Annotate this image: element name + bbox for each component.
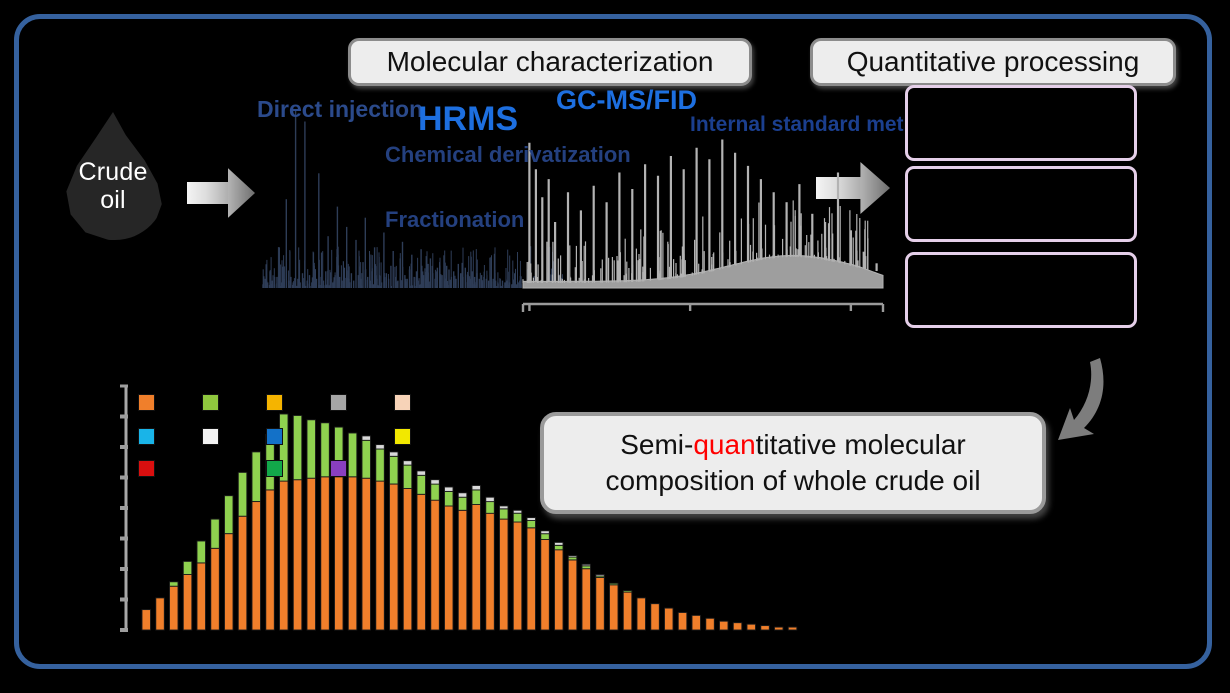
bar-segment <box>417 475 426 494</box>
bar-segment <box>225 496 234 534</box>
bar-segment <box>637 598 646 630</box>
caption-box: Semi-quantitative molecular composition … <box>540 412 1046 514</box>
bar-segment <box>568 556 577 558</box>
bar-segment <box>582 569 591 630</box>
bar-segment <box>610 585 619 630</box>
x-tick-label: 30 <box>678 312 702 314</box>
bar-segment <box>775 627 784 630</box>
annotation-hrms: HRMS <box>418 100 518 139</box>
swatch-yellow <box>394 428 411 445</box>
bar-segment <box>445 491 454 506</box>
annotation-fractionation: Fractionation <box>385 207 524 233</box>
bar-segment <box>527 518 536 521</box>
bar-segment <box>238 472 247 516</box>
bar-segment <box>183 575 192 631</box>
annotation-gc-ms-fid: GC-MS/FID <box>556 85 697 116</box>
bar-segment <box>156 598 165 630</box>
bar-segment <box>678 613 687 631</box>
swatch-green <box>266 460 283 477</box>
bar-segment <box>788 627 797 630</box>
result-box-2 <box>905 166 1137 242</box>
bar-segment <box>362 478 371 630</box>
figure-canvas: Crude oil Molecular characterization Qua… <box>0 0 1230 693</box>
bar-segment <box>293 480 302 630</box>
bar-segment <box>170 586 179 630</box>
bar-segment <box>555 542 564 545</box>
swatch-peach <box>394 394 411 411</box>
bar-segment <box>513 513 522 522</box>
swatch-purple <box>330 460 347 477</box>
bar-segment <box>403 488 412 630</box>
bar-segment <box>596 575 605 577</box>
bar-segment <box>197 541 206 563</box>
bar-segment <box>623 592 632 630</box>
bar-segment <box>651 604 660 630</box>
bar-segment <box>390 452 399 456</box>
bar-segment <box>623 591 632 593</box>
bar-segment <box>390 484 399 630</box>
droplet-label-line2: oil <box>60 186 166 214</box>
bar-segment <box>445 487 454 491</box>
result-box-3 <box>905 252 1137 328</box>
bar-segment <box>403 465 412 488</box>
bar-segment <box>252 502 261 630</box>
bar-segment <box>500 506 509 509</box>
composition-legend <box>138 394 388 472</box>
swatch-yellow-green <box>202 394 219 411</box>
swatch-cyan <box>138 428 155 445</box>
bar-segment <box>280 481 289 630</box>
caption-pre: Semi- <box>620 429 693 460</box>
bar-segment <box>348 477 357 630</box>
bar-segment <box>431 500 440 630</box>
bar-segment <box>307 478 316 630</box>
bar-segment <box>211 548 220 630</box>
arrow-shaft <box>187 182 231 204</box>
bar-segment <box>692 615 701 630</box>
time-axis: 53055Time (min) <box>523 304 889 314</box>
bar-segment <box>486 502 495 514</box>
bar-segment <box>500 519 509 630</box>
caption-line-2: composition of whole crude oil <box>605 463 980 499</box>
bar-segment <box>596 578 605 631</box>
bar-segment <box>403 461 412 465</box>
bar-segment <box>513 522 522 630</box>
bar-segment <box>486 513 495 630</box>
x-axis-label: Time (min) <box>785 312 889 314</box>
bar-segment <box>747 624 756 630</box>
annotation-direct-injection: Direct injection <box>257 96 423 123</box>
bar-segment <box>445 506 454 630</box>
caption-line-1: Semi-quantitative molecular <box>620 427 966 463</box>
bar-segment <box>527 528 536 630</box>
swatch-red <box>138 460 155 477</box>
bar-segment <box>238 516 247 630</box>
caption-highlight: quan <box>693 429 755 460</box>
bar-segment <box>458 510 467 630</box>
bar-segment <box>266 490 275 630</box>
bar-segment <box>761 626 770 630</box>
crude-oil-droplet: Crude oil <box>60 112 166 240</box>
bar-segment <box>541 534 550 540</box>
bar-segment <box>197 563 206 630</box>
droplet-label: Crude oil <box>60 158 166 214</box>
bar-segment <box>376 481 385 630</box>
bar-segment <box>458 497 467 510</box>
bar-segment <box>417 494 426 630</box>
swatch-amber <box>266 394 283 411</box>
swatch-gray <box>330 394 347 411</box>
caption-post: titative molecular <box>756 429 966 460</box>
annotation-internal-standard-method: Internal standard method <box>690 112 866 138</box>
bar-segment <box>183 561 192 574</box>
x-tick-label: 5 <box>523 312 535 314</box>
droplet-label-line1: Crude <box>60 158 166 186</box>
swatch-orange <box>138 394 155 411</box>
bar-segment <box>211 519 220 548</box>
bar-segment <box>225 534 234 630</box>
bar-segment <box>500 509 509 519</box>
swatch-blue <box>266 428 283 445</box>
bar-segment <box>568 560 577 630</box>
bar-segment <box>541 540 550 631</box>
bar-segment <box>706 618 715 630</box>
bar-segment <box>541 531 550 534</box>
bar-segment <box>555 545 564 549</box>
bar-segment <box>720 621 729 630</box>
bar-chart-y-axis <box>120 386 128 630</box>
bar-segment <box>733 623 742 630</box>
bar-segment <box>527 521 536 528</box>
bar-segment <box>472 490 481 505</box>
bar-segment <box>431 480 440 484</box>
bar-segment <box>555 550 564 630</box>
curved-arrow-shape <box>1058 358 1103 440</box>
bar-segment <box>321 477 330 630</box>
bar-segment <box>582 564 591 566</box>
bar-segment <box>513 510 522 513</box>
result-box-1 <box>905 85 1137 161</box>
bar-segment <box>431 484 440 500</box>
bar-segment <box>610 583 619 585</box>
bar-segment <box>142 610 151 630</box>
bar-segment <box>486 497 495 501</box>
swatch-white <box>202 428 219 445</box>
bar-segment <box>170 582 179 586</box>
bar-segment <box>472 505 481 631</box>
bar-segment <box>665 608 674 630</box>
bar-segment <box>417 471 426 475</box>
bar-segment <box>458 493 467 497</box>
bar-segment <box>472 486 481 490</box>
bar-segment <box>390 456 399 484</box>
annotation-chemical-derivatization: Chemical derivatization <box>385 142 517 168</box>
bar-segment <box>335 477 344 630</box>
